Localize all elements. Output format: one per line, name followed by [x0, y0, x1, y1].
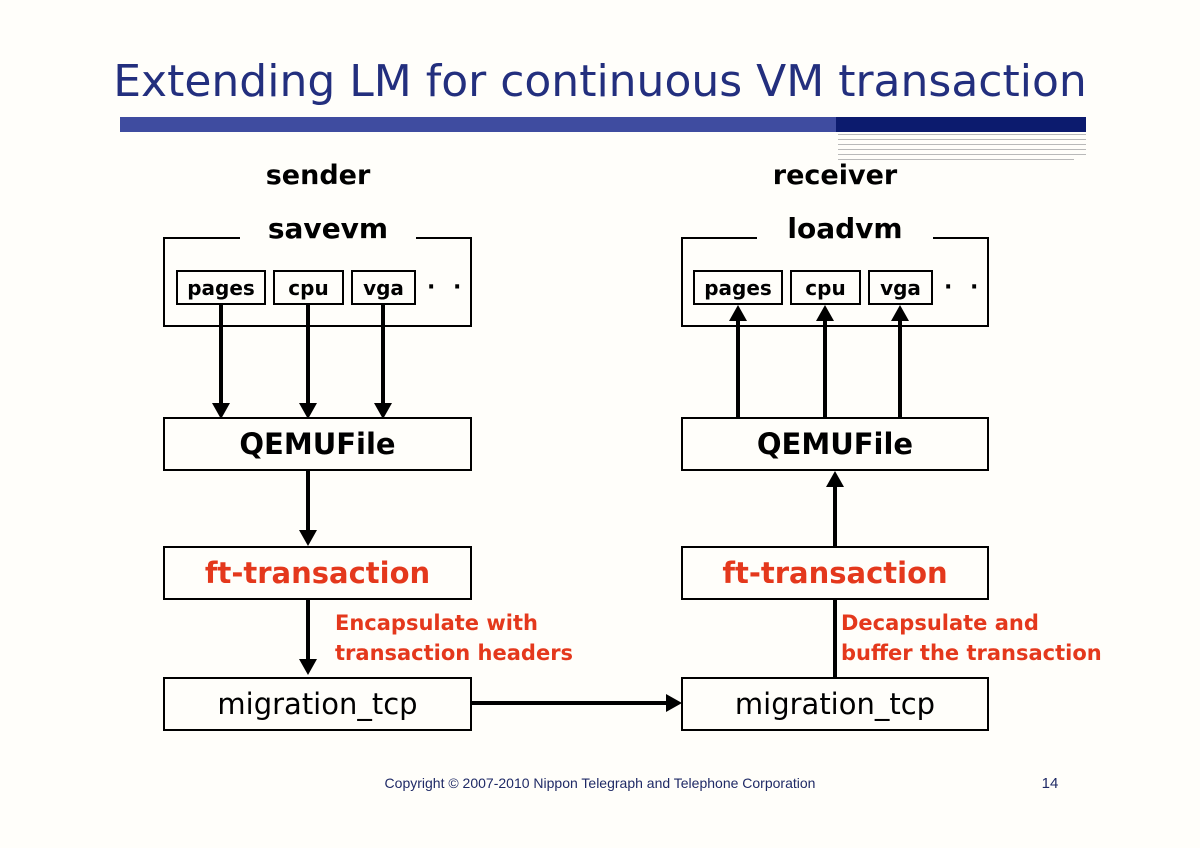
page-title: Extending LM for continuous VM transacti… [0, 56, 1200, 107]
receiver-box-migration-tcp[interactable]: migration_tcp [681, 677, 989, 731]
sender-arrow-head-qemufile [299, 530, 317, 546]
sender-arrow-line-cpu [306, 305, 310, 410]
sender-annotation: Encapsulate with transaction headers [335, 608, 573, 669]
receiver-annotation: Decapsulate and buffer the transaction [841, 608, 1102, 669]
sender-arrow-line-vga [381, 305, 385, 410]
receiver-heading: receiver [681, 160, 989, 191]
sender-arrow-line-pages [219, 305, 223, 410]
sender-arrow-head-ft [299, 659, 317, 675]
slide-canvas: Extending LM for continuous VM transacti… [0, 0, 1200, 848]
receiver-ellipsis: · · [944, 275, 983, 300]
receiver-arrow-head-pages [729, 305, 747, 321]
receiver-box-ft-transaction[interactable]: ft-transaction [681, 546, 989, 600]
sender-box-ft-transaction[interactable]: ft-transaction [163, 546, 472, 600]
network-link-line [472, 701, 668, 705]
sender-sub-box-cpu[interactable]: cpu [273, 270, 344, 305]
receiver-sub-box-vga[interactable]: vga [868, 270, 933, 305]
sender-sub-box-vga[interactable]: vga [351, 270, 416, 305]
footer-copyright: Copyright © 2007-2010 Nippon Telegraph a… [0, 775, 1200, 791]
accent-bar-left [120, 117, 836, 132]
accent-bar-right [836, 117, 1086, 132]
receiver-arrow-line-pages [736, 321, 740, 417]
receiver-arrow-line-cpu [823, 321, 827, 417]
sender-group-label: savevm [240, 212, 416, 245]
sender-sub-box-pages[interactable]: pages [176, 270, 266, 305]
receiver-arrow-line-ft [833, 600, 837, 677]
network-link-arrow-head [666, 694, 682, 712]
sender-box-qemufile[interactable]: QEMUFile [163, 417, 472, 471]
footer-page-number: 14 [1030, 775, 1070, 792]
sender-ellipsis: · · [427, 275, 466, 300]
receiver-arrow-line-qemufile [833, 487, 837, 546]
sender-heading: sender [163, 160, 473, 191]
receiver-group-label: loadvm [757, 212, 933, 245]
sender-arrow-line-ft [306, 600, 310, 662]
sender-box-migration-tcp[interactable]: migration_tcp [163, 677, 472, 731]
receiver-sub-box-cpu[interactable]: cpu [790, 270, 861, 305]
receiver-arrow-line-vga [898, 321, 902, 417]
sender-arrow-line-qemufile [306, 471, 310, 533]
receiver-box-qemufile[interactable]: QEMUFile [681, 417, 989, 471]
receiver-arrow-head-vga [891, 305, 909, 321]
receiver-sub-box-pages[interactable]: pages [693, 270, 783, 305]
receiver-arrow-head-qemufile [826, 471, 844, 487]
receiver-arrow-head-cpu [816, 305, 834, 321]
